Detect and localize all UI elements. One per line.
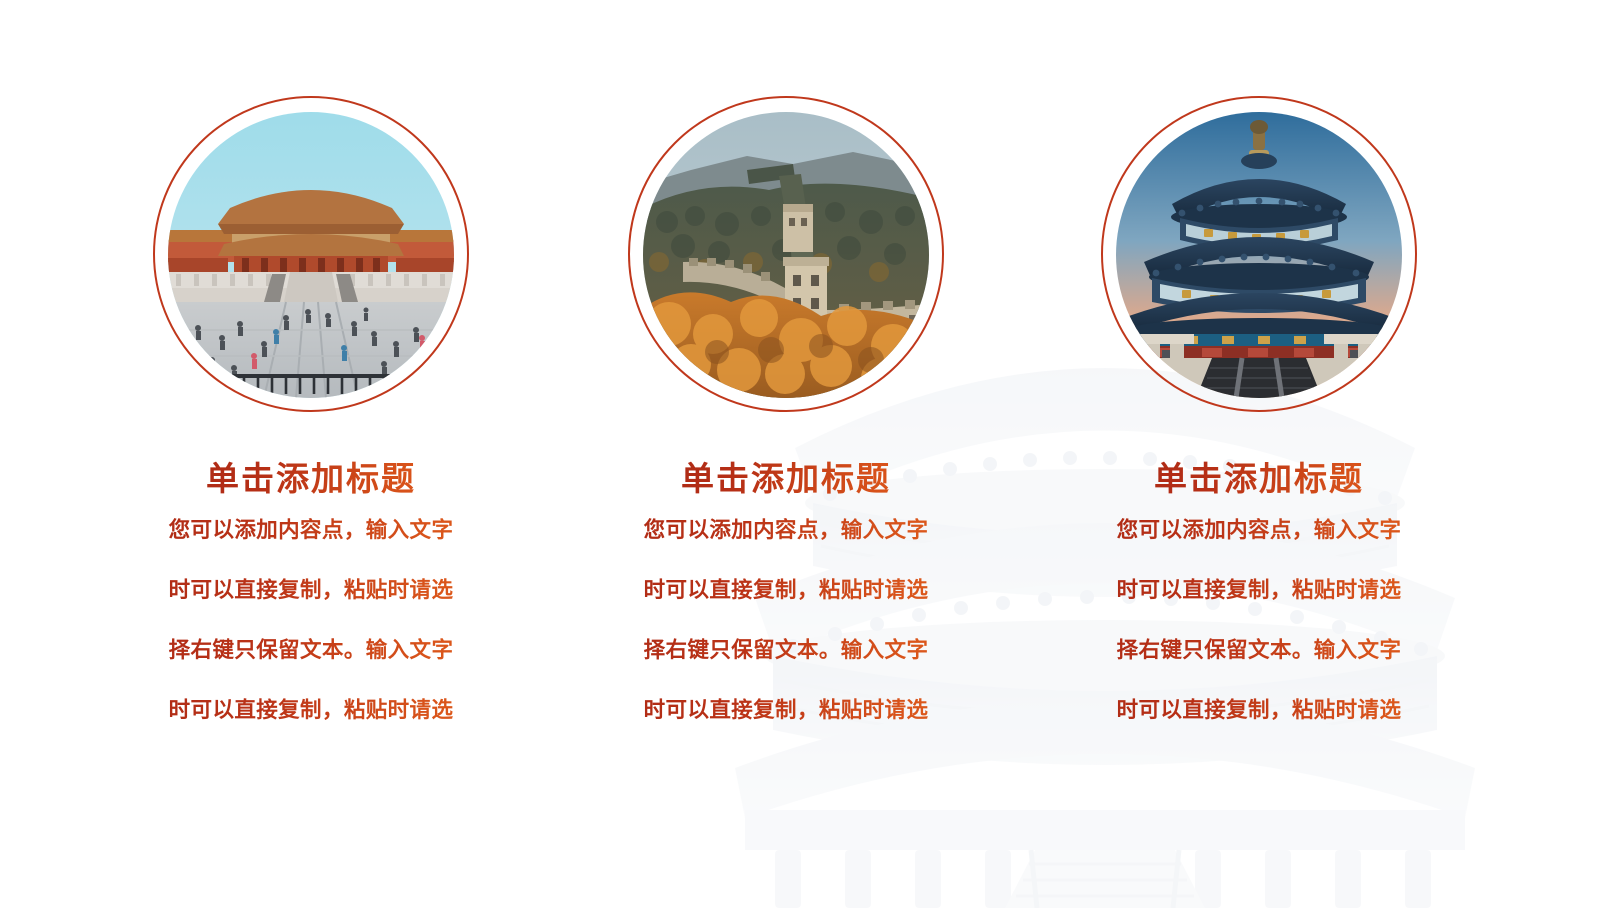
column-title-1[interactable]: 单击添加标题 — [101, 459, 521, 499]
body-line[interactable]: 时可以直接复制，粘贴时请选 — [1049, 576, 1469, 604]
column-body-2: 您可以添加内容点，输入文字 时可以直接复制，粘贴时请选 择右键只保留文本。输入文… — [576, 516, 996, 724]
column-title-2[interactable]: 单击添加标题 — [576, 459, 996, 499]
body-line[interactable]: 择右键只保留文本。输入文字 — [1049, 636, 1469, 664]
photo-ring-1 — [153, 96, 469, 412]
slide-canvas: 单击添加标题 您可以添加内容点，输入文字 时可以直接复制，粘贴时请选 择右键只保… — [0, 0, 1598, 900]
body-line[interactable]: 时可以直接复制，粘贴时请选 — [576, 696, 996, 724]
photo-circle-3[interactable] — [1101, 96, 1417, 412]
body-line[interactable]: 您可以添加内容点，输入文字 — [101, 516, 521, 544]
photo-circle-2[interactable] — [628, 96, 944, 412]
body-line[interactable]: 时可以直接复制，粘贴时请选 — [576, 576, 996, 604]
body-line[interactable]: 时可以直接复制，粘贴时请选 — [101, 576, 521, 604]
column-body-3: 您可以添加内容点，输入文字 时可以直接复制，粘贴时请选 择右键只保留文本。输入文… — [1049, 516, 1469, 724]
body-line[interactable]: 您可以添加内容点，输入文字 — [1049, 516, 1469, 544]
content-column-2: 单击添加标题 您可以添加内容点，输入文字 时可以直接复制，粘贴时请选 择右键只保… — [576, 0, 996, 900]
content-column-3: 单击添加标题 您可以添加内容点，输入文字 时可以直接复制，粘贴时请选 择右键只保… — [1049, 0, 1469, 900]
column-title-3[interactable]: 单击添加标题 — [1049, 459, 1469, 499]
content-columns: 单击添加标题 您可以添加内容点，输入文字 时可以直接复制，粘贴时请选 择右键只保… — [0, 0, 1598, 900]
photo-circle-1[interactable] — [153, 96, 469, 412]
body-line[interactable]: 时可以直接复制，粘贴时请选 — [101, 696, 521, 724]
column-body-1: 您可以添加内容点，输入文字 时可以直接复制，粘贴时请选 择右键只保留文本。输入文… — [101, 516, 521, 724]
body-line[interactable]: 择右键只保留文本。输入文字 — [101, 636, 521, 664]
content-column-1: 单击添加标题 您可以添加内容点，输入文字 时可以直接复制，粘贴时请选 择右键只保… — [101, 0, 521, 900]
body-line[interactable]: 时可以直接复制，粘贴时请选 — [1049, 696, 1469, 724]
photo-ring-3 — [1101, 96, 1417, 412]
body-line[interactable]: 您可以添加内容点，输入文字 — [576, 516, 996, 544]
body-line[interactable]: 择右键只保留文本。输入文字 — [576, 636, 996, 664]
photo-ring-2 — [628, 96, 944, 412]
